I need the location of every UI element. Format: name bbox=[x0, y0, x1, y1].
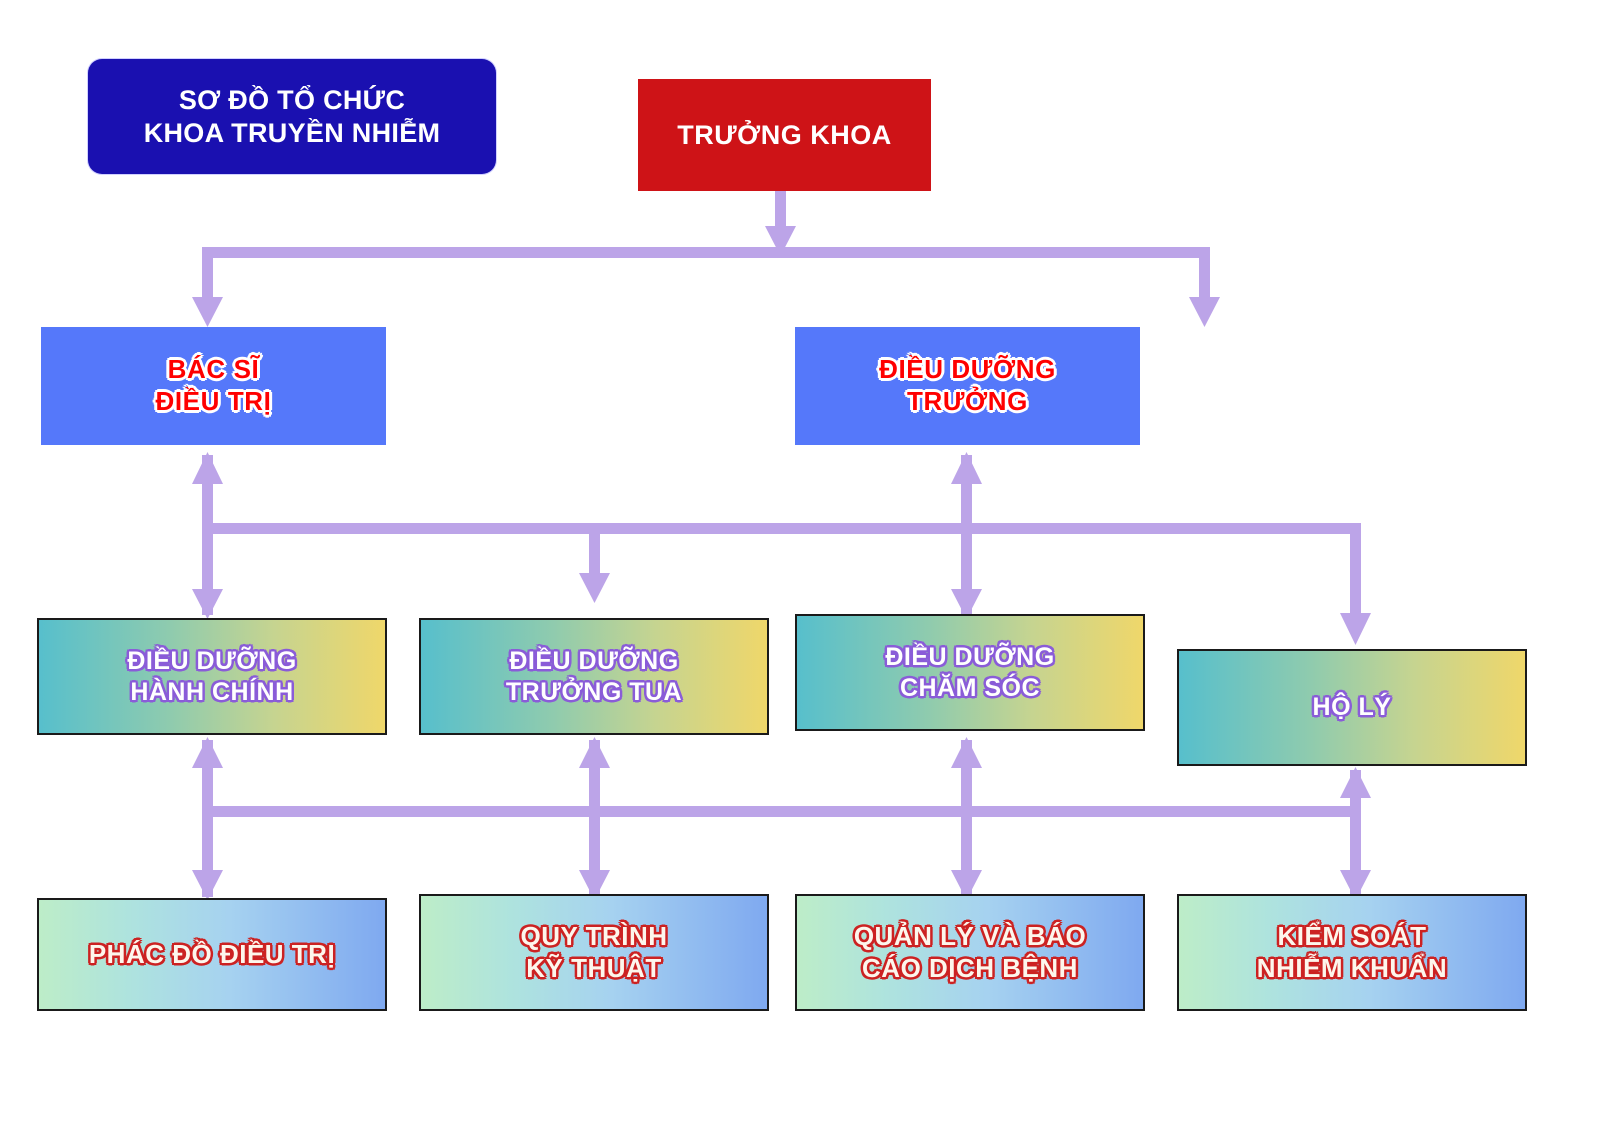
node-phac-do-dieu-tri[interactable]: PHÁC ĐỒ ĐIỀU TRỊ bbox=[37, 898, 387, 1011]
node-dieu-duong-hanh-chinh-line-1: ĐIỀU DƯỠNG bbox=[127, 646, 296, 677]
node-quan-ly-bao-cao-dich-benh-line-1: QUẢN LÝ VÀ BÁO bbox=[854, 921, 1086, 953]
connector-col4-level3-level4 bbox=[1340, 767, 1371, 900]
node-bac-si-dieu-tri-line-2: ĐIỀU TRỊ bbox=[155, 386, 271, 418]
node-dieu-duong-hanh-chinh-line-2: HÀNH CHÍNH bbox=[130, 677, 293, 708]
node-dieu-duong-truong-line-1: ĐIỀU DƯỠNG bbox=[879, 354, 1056, 386]
node-dieu-duong-truong-tua[interactable]: ĐIỀU DƯỠNG TRƯỞNG TUA bbox=[419, 618, 769, 735]
title-line-2: KHOA TRUYỀN NHIỄM bbox=[144, 117, 441, 150]
connector-root-to-bus bbox=[765, 190, 796, 256]
node-dieu-duong-cham-soc[interactable]: ĐIỀU DƯỠNG CHĂM SÓC bbox=[795, 614, 1145, 731]
node-quy-trinh-ky-thuat-line-2: KỸ THUẬT bbox=[526, 953, 661, 985]
connector-bus-level4 bbox=[207, 806, 1356, 817]
connector-col1-level3-level4 bbox=[192, 737, 223, 900]
node-quan-ly-bao-cao-dich-benh-line-2: CÁO DỊCH BỆNH bbox=[862, 953, 1078, 985]
node-truong-khoa-label: TRƯỞNG KHOA bbox=[677, 119, 891, 152]
node-phac-do-dieu-tri-line-1: PHÁC ĐỒ ĐIỀU TRỊ bbox=[89, 939, 335, 971]
node-quy-trinh-ky-thuat[interactable]: QUY TRÌNH KỸ THUẬT bbox=[419, 894, 769, 1011]
node-dieu-duong-truong-tua-line-2: TRƯỞNG TUA bbox=[506, 677, 682, 708]
node-dieu-duong-hanh-chinh[interactable]: ĐIỀU DƯỠNG HÀNH CHÍNH bbox=[37, 618, 387, 735]
node-kiem-soat-nhiem-khuan[interactable]: KIỂM SOÁT NHIỄM KHUẨN bbox=[1177, 894, 1527, 1011]
connector-bus-level2 bbox=[192, 247, 1220, 327]
title-line-1: SƠ ĐỒ TỔ CHỨC bbox=[179, 84, 405, 117]
org-chart-canvas: SƠ ĐỒ TỔ CHỨC KHOA TRUYỀN NHIỄM TRƯỞNG K… bbox=[0, 0, 1600, 1132]
node-dieu-duong-truong-line-2: TRƯỞNG bbox=[907, 386, 1028, 418]
node-ho-ly-line-1: HỘ LÝ bbox=[1313, 692, 1392, 723]
connector-col3-level3-level4 bbox=[951, 737, 982, 900]
connector-col3-level2-level3 bbox=[951, 452, 982, 619]
node-dieu-duong-cham-soc-line-1: ĐIỀU DƯỠNG bbox=[885, 642, 1054, 673]
title-card: SƠ ĐỒ TỔ CHỨC KHOA TRUYỀN NHIỄM bbox=[88, 59, 496, 174]
node-ho-ly[interactable]: HỘ LÝ bbox=[1177, 649, 1527, 766]
connector-col1-level2-level3 bbox=[192, 452, 223, 619]
node-kiem-soat-nhiem-khuan-line-2: NHIỄM KHUẨN bbox=[1257, 953, 1447, 985]
node-quan-ly-bao-cao-dich-benh[interactable]: QUẢN LÝ VÀ BÁO CÁO DỊCH BỆNH bbox=[795, 894, 1145, 1011]
connector-col2-level3-level4 bbox=[579, 737, 610, 900]
node-bac-si-dieu-tri-line-1: BÁC SĨ bbox=[168, 354, 260, 386]
node-dieu-duong-truong-tua-line-1: ĐIỀU DƯỠNG bbox=[509, 646, 678, 677]
node-kiem-soat-nhiem-khuan-line-1: KIỂM SOÁT bbox=[1278, 921, 1427, 953]
node-truong-khoa[interactable]: TRƯỞNG KHOA bbox=[638, 79, 931, 191]
node-dieu-duong-truong[interactable]: ĐIỀU DƯỠNG TRƯỞNG bbox=[795, 327, 1140, 445]
node-dieu-duong-cham-soc-line-2: CHĂM SÓC bbox=[900, 673, 1040, 704]
node-bac-si-dieu-tri[interactable]: BÁC SĨ ĐIỀU TRỊ bbox=[41, 327, 386, 445]
node-quy-trinh-ky-thuat-line-1: QUY TRÌNH bbox=[520, 921, 667, 953]
